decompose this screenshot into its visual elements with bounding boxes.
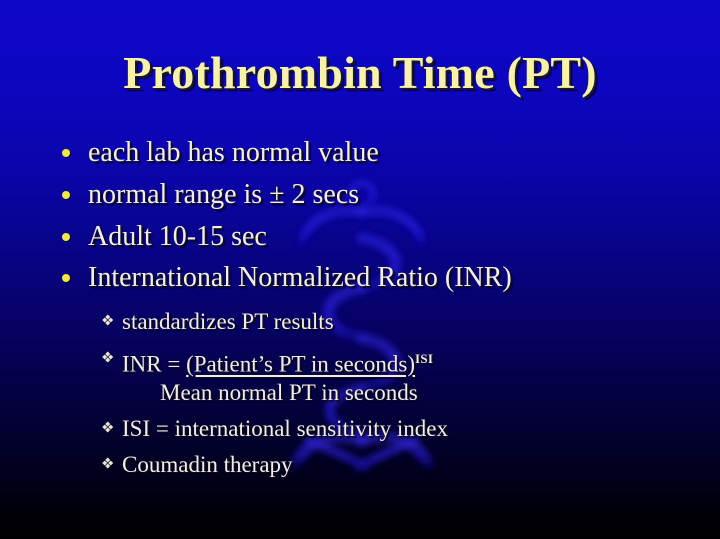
bullet-item: each lab has normal value <box>0 132 720 173</box>
slide-body: each lab has normal value normal range i… <box>0 132 720 482</box>
bullet-item: International Normalized Ratio (INR) <box>0 257 720 298</box>
formula-denominator: Mean normal PT in seconds <box>160 380 418 405</box>
bullet-text: Adult 10-15 sec <box>88 221 267 252</box>
diamond-bullet-icon: ❖ <box>101 457 114 472</box>
formula-label: INR = <box>122 352 186 377</box>
bullet-text: each lab has normal value <box>88 137 379 168</box>
bullet-item: normal range is ± 2 secs <box>0 174 720 215</box>
sub-bullet-text: ISI = international sensitivity index <box>122 416 448 441</box>
sub-bullet-text: Coumadin therapy <box>122 452 293 477</box>
bullet-dot-icon <box>62 191 70 199</box>
formula-denominator-row: Mean normal PT in seconds <box>0 375 720 410</box>
formula-numerator: (Patient’s PT in seconds) <box>186 352 415 377</box>
diamond-bullet-icon: ❖ <box>101 421 114 436</box>
sub-bullet-item: ❖ standardizes PT results <box>0 304 720 339</box>
sub-bullet-item: ❖ ISI = international sensitivity index <box>0 411 720 446</box>
bullet-text: International Normalized Ratio (INR) <box>88 262 512 293</box>
diamond-bullet-icon: ❖ <box>101 314 114 329</box>
bullet-dot-icon <box>62 274 70 282</box>
bullet-item: Adult 10-15 sec <box>0 216 720 257</box>
bullet-dot-icon <box>62 233 70 241</box>
bullet-dot-icon <box>62 149 70 157</box>
sub-bullet-item-formula: ❖ INR = (Patient’s PT in seconds)ISI <box>0 341 720 376</box>
sub-bullet-item: ❖ Coumadin therapy <box>0 447 720 482</box>
presentation-slide: Prothrombin Time (PT) each lab has norma… <box>0 0 720 539</box>
sub-bullet-text: standardizes PT results <box>122 309 334 334</box>
slide-title: Prothrombin Time (PT) <box>0 46 720 99</box>
formula-exponent: ISI <box>415 351 433 366</box>
bullet-text: normal range is ± 2 secs <box>88 179 359 210</box>
diamond-bullet-icon: ❖ <box>101 351 114 366</box>
